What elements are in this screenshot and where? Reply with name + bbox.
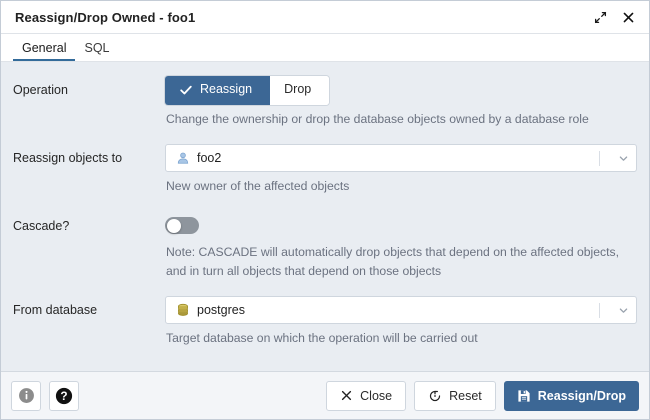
- database-icon: [176, 303, 190, 317]
- dialog-footer: ? Close Reset: [1, 371, 649, 419]
- operation-help-text: Change the ownership or drop the databas…: [165, 110, 637, 129]
- tab-general[interactable]: General: [13, 42, 75, 62]
- question-icon: ?: [55, 387, 73, 405]
- tab-sql[interactable]: SQL: [75, 42, 118, 62]
- from-database-value-wrap: postgres: [176, 303, 599, 317]
- chevron-down-icon[interactable]: [610, 305, 636, 316]
- select-separator: [599, 303, 600, 318]
- dialog-form: Operation Reassign Drop Change the owner…: [1, 62, 649, 371]
- reset-button[interactable]: Reset: [414, 381, 496, 411]
- expand-diagonal-icon[interactable]: [589, 6, 611, 28]
- check-icon: [179, 83, 193, 97]
- role-user-icon: [176, 151, 190, 165]
- cascade-toggle-switch[interactable]: [165, 217, 199, 234]
- save-icon: [517, 389, 531, 403]
- reassign-to-label: Reassign objects to: [13, 144, 165, 166]
- operation-label: Operation: [13, 76, 165, 98]
- close-x-icon: [340, 389, 353, 402]
- reassign-drop-owned-dialog: Reassign/Drop Owned - foo1 General SQL O…: [0, 0, 650, 420]
- cascade-toggle-knob: [167, 219, 181, 233]
- select-separator: [599, 151, 600, 166]
- cascade-label: Cascade?: [13, 212, 165, 234]
- close-button[interactable]: Close: [326, 381, 406, 411]
- operation-option-drop[interactable]: Drop: [270, 76, 329, 105]
- from-database-select[interactable]: postgres: [165, 296, 637, 324]
- reassign-to-select[interactable]: foo2: [165, 144, 637, 172]
- dialog-tabs: General SQL: [1, 34, 649, 62]
- reassign-to-value-wrap: foo2: [176, 151, 599, 165]
- field-row-from-database: From database postgres: [13, 296, 637, 348]
- reset-undo-icon: [428, 389, 442, 403]
- field-row-operation: Operation Reassign Drop Change the owner…: [13, 76, 637, 128]
- from-database-field: postgres Target database on which the op…: [165, 296, 637, 348]
- info-button[interactable]: [11, 381, 41, 411]
- dialog-title: Reassign/Drop Owned - foo1: [15, 10, 589, 25]
- cascade-field: Note: CASCADE will automatically drop ob…: [165, 212, 637, 281]
- reassign-to-field: foo2 New owner of the affected objects: [165, 144, 637, 196]
- chevron-down-icon[interactable]: [610, 153, 636, 164]
- reassign-to-help-text: New owner of the affected objects: [165, 177, 637, 196]
- from-database-value: postgres: [197, 303, 245, 317]
- close-icon[interactable]: [617, 6, 639, 28]
- operation-option-drop-label: Drop: [284, 81, 311, 99]
- operation-option-reassign[interactable]: Reassign: [165, 76, 270, 105]
- cascade-help-text: Note: CASCADE will automatically drop ob…: [165, 243, 637, 281]
- help-button[interactable]: ?: [49, 381, 79, 411]
- submit-button-label: Reassign/Drop: [538, 389, 626, 403]
- info-icon: [18, 387, 35, 404]
- field-row-reassign-to: Reassign objects to foo2: [13, 144, 637, 196]
- svg-text:?: ?: [60, 389, 67, 403]
- from-database-label: From database: [13, 296, 165, 318]
- field-row-cascade: Cascade? Note: CASCADE will automaticall…: [13, 212, 637, 281]
- close-button-label: Close: [360, 389, 392, 403]
- dialog-titlebar: Reassign/Drop Owned - foo1: [1, 1, 649, 34]
- operation-option-reassign-label: Reassign: [200, 81, 252, 99]
- from-database-help-text: Target database on which the operation w…: [165, 329, 637, 348]
- operation-field: Reassign Drop Change the ownership or dr…: [165, 76, 637, 128]
- reassign-to-value: foo2: [197, 151, 221, 165]
- reset-button-label: Reset: [449, 389, 482, 403]
- operation-toggle-group: Reassign Drop: [165, 76, 329, 105]
- submit-reassign-drop-button[interactable]: Reassign/Drop: [504, 381, 639, 411]
